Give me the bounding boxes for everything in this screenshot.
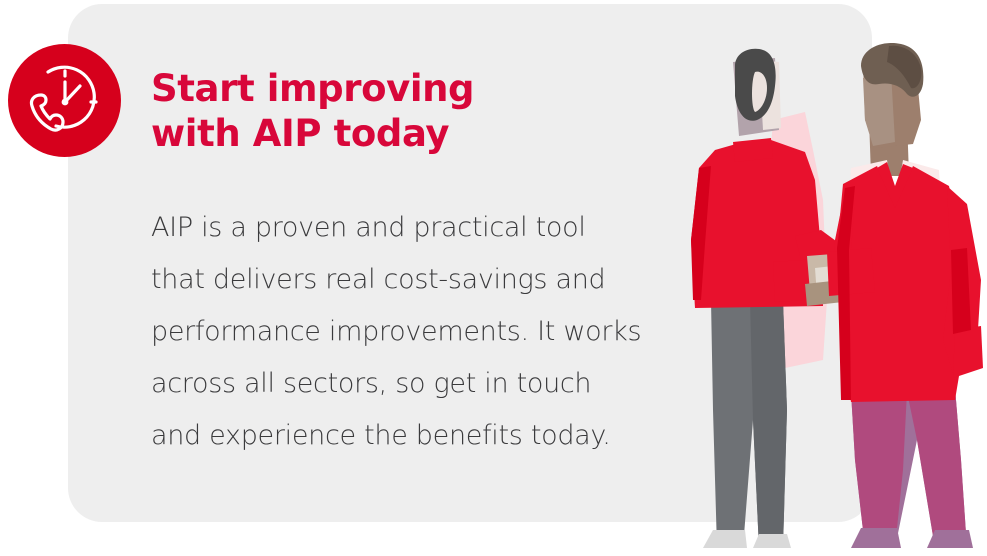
two-people-handshake-illustration bbox=[655, 0, 987, 556]
body-paragraph: AIP is a proven and practical tool that … bbox=[151, 156, 711, 462]
poster-canvas: Start improving with AIP today AIP is a … bbox=[0, 0, 987, 556]
right-figure bbox=[827, 43, 983, 548]
page-title: Start improving with AIP today bbox=[151, 66, 711, 156]
phone-clock-icon-badge bbox=[8, 44, 121, 157]
text-block: Start improving with AIP today AIP is a … bbox=[151, 66, 711, 462]
phone-clock-icon bbox=[8, 44, 121, 157]
